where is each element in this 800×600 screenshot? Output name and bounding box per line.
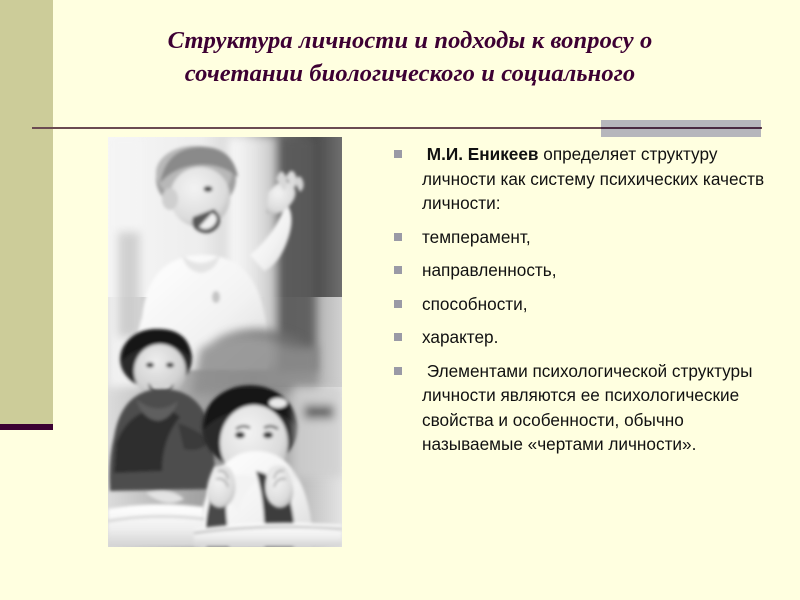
list-item-text: способности, <box>422 292 776 317</box>
square-bullet-icon <box>394 300 402 308</box>
list-item: характер. <box>388 325 776 350</box>
list-item: Элементами психологической структуры лич… <box>388 359 776 457</box>
slide-title: Структура личности и подходы к вопросу о… <box>90 24 730 90</box>
header-divider-rule-overlay <box>601 127 761 129</box>
classroom-photo <box>108 137 342 547</box>
left-band-underline <box>0 424 53 430</box>
square-bullet-icon <box>394 150 402 158</box>
list-item: направленность, <box>388 258 776 283</box>
list-item-rest: Элементами психологической структуры лич… <box>422 361 752 455</box>
square-bullet-icon <box>394 266 402 274</box>
square-bullet-icon <box>394 367 402 375</box>
square-bullet-icon <box>394 233 402 241</box>
slide-canvas: Структура личности и подходы к вопросу о… <box>0 0 800 600</box>
list-item-text: направленность, <box>422 258 776 283</box>
left-decorative-band <box>0 0 53 424</box>
list-item-bold: М.И. Еникеев <box>427 144 539 164</box>
square-bullet-icon <box>394 333 402 341</box>
list-item: темперамент, <box>388 225 776 250</box>
slide-title-line-1: Структура личности и подходы к вопросу о <box>90 24 730 57</box>
list-item-text: Элементами психологической структуры лич… <box>422 359 776 457</box>
list-item-text: характер. <box>422 325 776 350</box>
slide-title-line-2: сочетании биологического и социального <box>90 57 730 90</box>
list-item-text: М.И. Еникеев определяет структуру личнос… <box>422 142 776 216</box>
bullet-list: М.И. Еникеев определяет структуру личнос… <box>388 142 776 457</box>
list-item: способности, <box>388 292 776 317</box>
list-item: М.И. Еникеев определяет структуру личнос… <box>388 142 776 216</box>
list-item-text: темперамент, <box>422 225 776 250</box>
